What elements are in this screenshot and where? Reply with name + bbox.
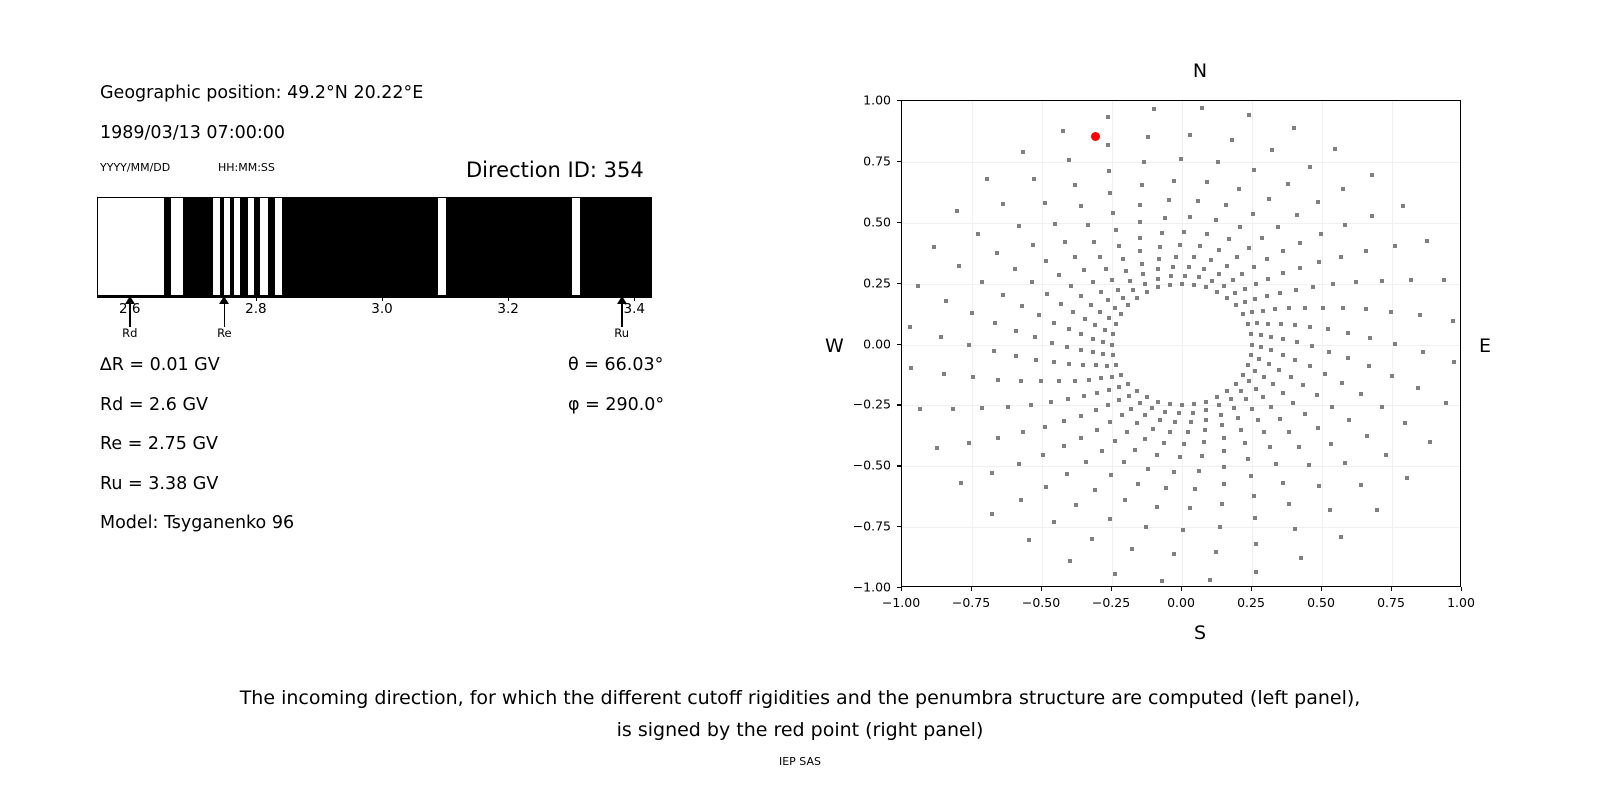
x-axis-tick-label: −1.00 bbox=[882, 595, 920, 610]
y-axis-tick-label: 0.50 bbox=[839, 214, 891, 229]
scatter-point bbox=[918, 407, 922, 411]
scatter-point bbox=[1110, 375, 1114, 379]
scatter-point bbox=[1043, 201, 1047, 205]
scatter-point bbox=[1065, 472, 1069, 476]
scatter-point bbox=[1114, 228, 1118, 232]
y-axis-tick-label: −1.00 bbox=[839, 580, 891, 595]
rigidity-tick-label: 2.8 bbox=[245, 301, 266, 317]
y-axis-tick bbox=[897, 100, 901, 101]
scatter-point bbox=[1079, 204, 1083, 208]
scatter-point bbox=[1341, 187, 1345, 191]
scatter-point bbox=[1063, 240, 1067, 244]
scatter-point bbox=[959, 481, 963, 485]
scatter-point bbox=[1321, 306, 1325, 310]
scatter-point bbox=[1390, 374, 1394, 378]
scatter-point bbox=[1191, 411, 1195, 415]
scatter-point bbox=[1021, 430, 1025, 434]
scatter-point bbox=[1327, 350, 1331, 354]
scatter-point bbox=[1057, 379, 1061, 383]
scatter-point bbox=[1303, 306, 1307, 310]
scatter-point bbox=[1182, 230, 1186, 234]
scatter-point bbox=[1146, 135, 1150, 139]
scatter-point bbox=[1158, 245, 1162, 249]
scatter-point bbox=[1082, 394, 1086, 398]
scatter-point bbox=[1014, 354, 1018, 358]
scatter-point bbox=[1119, 312, 1123, 316]
scatter-point bbox=[1225, 264, 1229, 268]
scatter-point bbox=[1295, 340, 1299, 344]
scatter-point bbox=[1380, 405, 1384, 409]
scatter-point bbox=[942, 372, 946, 376]
scatter-point bbox=[1222, 436, 1226, 440]
scatter-point bbox=[1107, 169, 1111, 173]
scatter-point bbox=[1297, 445, 1301, 449]
scatter-point bbox=[1222, 284, 1226, 288]
gridline-vertical bbox=[1042, 101, 1043, 586]
scatter-point bbox=[1346, 331, 1350, 335]
scatter-point bbox=[1079, 332, 1083, 336]
scatter-point bbox=[1087, 378, 1091, 382]
scatter-point bbox=[1204, 408, 1208, 412]
scatter-point bbox=[993, 321, 997, 325]
scatter-point bbox=[1094, 408, 1098, 412]
scatter-point bbox=[1110, 278, 1114, 282]
scatter-point bbox=[1057, 273, 1061, 277]
scatter-point bbox=[1095, 428, 1099, 432]
y-axis-tick bbox=[897, 283, 901, 284]
scatter-point bbox=[1138, 203, 1142, 207]
caption-line-2: is signed by the red point (right panel) bbox=[0, 714, 1600, 746]
scatter-point bbox=[1316, 200, 1320, 204]
scatter-point bbox=[1182, 442, 1186, 446]
scatter-point bbox=[1192, 283, 1196, 287]
scatter-point bbox=[1113, 439, 1117, 443]
scatter-point bbox=[1217, 272, 1221, 276]
scatter-point bbox=[1044, 485, 1048, 489]
scatter-point bbox=[1380, 279, 1384, 283]
angle-parameter-line: θ = 66.03° bbox=[568, 355, 663, 375]
scatter-point bbox=[1269, 348, 1273, 352]
gridline-vertical bbox=[972, 101, 973, 586]
scatter-point bbox=[1086, 223, 1090, 227]
penumbra-forbidden-band bbox=[220, 198, 224, 295]
scatter-point bbox=[951, 407, 955, 411]
scatter-point bbox=[1152, 107, 1156, 111]
scatter-point bbox=[1130, 547, 1134, 551]
scatter-point bbox=[1121, 296, 1125, 300]
scatter-point bbox=[1196, 199, 1200, 203]
scatter-point bbox=[1142, 160, 1146, 164]
scatter-point bbox=[1217, 248, 1221, 252]
parameter-line: Ru = 3.38 GV bbox=[100, 474, 218, 494]
marker-label: Rd bbox=[122, 326, 137, 340]
scatter-point bbox=[1370, 214, 1374, 218]
scatter-point bbox=[970, 311, 974, 315]
scatter-point bbox=[1421, 350, 1425, 354]
x-axis-tick bbox=[1461, 587, 1462, 591]
scatter-point bbox=[1197, 275, 1201, 279]
scatter-point bbox=[1101, 340, 1105, 344]
scatter-point bbox=[1247, 379, 1251, 383]
scatter-point bbox=[1129, 407, 1133, 411]
scatter-point bbox=[1279, 322, 1283, 326]
scatter-point bbox=[1246, 322, 1250, 326]
scatter-point bbox=[996, 378, 1000, 382]
scatter-point bbox=[1156, 400, 1160, 404]
scatter-point bbox=[1135, 421, 1139, 425]
scatter-point bbox=[1214, 218, 1218, 222]
arrow-shaft bbox=[224, 301, 225, 327]
scatter-point bbox=[1359, 392, 1363, 396]
x-axis-tick bbox=[1041, 587, 1042, 591]
scatter-point bbox=[1262, 375, 1266, 379]
scatter-point bbox=[1235, 255, 1239, 259]
scatter-point bbox=[1293, 358, 1297, 362]
caption-line-1: The incoming direction, for which the di… bbox=[0, 682, 1600, 714]
scatter-point bbox=[1124, 269, 1128, 273]
scatter-point bbox=[1384, 453, 1388, 457]
scatter-point bbox=[1339, 255, 1343, 259]
scatter-point bbox=[1416, 386, 1420, 390]
penumbra-bar bbox=[97, 197, 652, 296]
scatter-point bbox=[995, 251, 999, 255]
scatter-point bbox=[1107, 316, 1111, 320]
scatter-point bbox=[1294, 288, 1298, 292]
scatter-point bbox=[1082, 268, 1086, 272]
scatter-point bbox=[1053, 222, 1057, 226]
scatter-point bbox=[1451, 319, 1455, 323]
scatter-point bbox=[1122, 460, 1126, 464]
scatter-point bbox=[1299, 556, 1303, 560]
scatter-point bbox=[1138, 249, 1142, 253]
scatter-point bbox=[1252, 168, 1256, 172]
marker-label: Ru bbox=[614, 326, 629, 340]
scatter-point bbox=[1151, 427, 1155, 431]
scatter-point bbox=[1236, 416, 1240, 420]
scatter-point bbox=[1311, 285, 1315, 289]
scatter-point bbox=[1265, 257, 1269, 261]
scatter-point bbox=[1225, 296, 1229, 300]
scatter-point bbox=[1277, 368, 1281, 372]
scatter-point bbox=[1145, 395, 1149, 399]
scatter-point bbox=[1073, 255, 1077, 259]
scatter-point bbox=[1073, 183, 1077, 187]
scatter-point bbox=[1253, 369, 1257, 373]
scatter-point bbox=[1281, 481, 1285, 485]
scatter-point bbox=[1156, 285, 1160, 289]
scatter-point bbox=[976, 232, 980, 236]
scatter-point bbox=[1172, 179, 1176, 183]
parameter-line: Model: Tsyganenko 96 bbox=[100, 513, 294, 533]
scatter-point bbox=[1099, 376, 1103, 380]
penumbra-forbidden-band bbox=[230, 198, 234, 295]
scatter-point bbox=[1033, 335, 1037, 339]
penumbra-forbidden-band bbox=[282, 198, 438, 295]
scatter-point bbox=[1240, 272, 1244, 276]
scatter-point bbox=[1079, 294, 1083, 298]
scatter-point bbox=[1293, 527, 1297, 531]
scatter-point bbox=[1095, 391, 1099, 395]
scatter-point bbox=[1168, 283, 1172, 287]
x-axis-tick-label: 0.00 bbox=[1167, 595, 1195, 610]
scatter-point bbox=[1180, 403, 1184, 407]
scatter-point bbox=[1158, 418, 1162, 422]
scatter-point bbox=[1120, 413, 1124, 417]
scatter-point bbox=[1135, 389, 1139, 393]
scatter-point bbox=[1259, 345, 1263, 349]
scatter-point bbox=[1442, 278, 1446, 282]
scatter-point bbox=[1069, 284, 1073, 288]
scatter-point bbox=[1268, 445, 1272, 449]
scatter-point bbox=[1150, 406, 1154, 410]
scatter-point bbox=[1256, 418, 1260, 422]
scatter-point bbox=[944, 299, 948, 303]
scatter-point bbox=[1230, 138, 1234, 142]
scatter-point bbox=[1189, 420, 1193, 424]
scatter-point bbox=[1273, 307, 1277, 311]
scatter-point bbox=[1079, 414, 1083, 418]
scatter-point bbox=[1108, 191, 1112, 195]
scatter-point bbox=[1375, 508, 1379, 512]
scatter-point bbox=[1131, 288, 1135, 292]
scatter-point bbox=[1210, 279, 1214, 283]
scatter-point bbox=[1019, 379, 1023, 383]
scatter-point bbox=[1317, 484, 1321, 488]
scatter-point bbox=[1234, 382, 1238, 386]
scatter-point bbox=[1269, 335, 1273, 339]
scatter-point bbox=[1220, 502, 1224, 506]
scatter-point bbox=[1100, 449, 1104, 453]
x-axis-tick bbox=[901, 587, 902, 591]
scatter-point bbox=[1339, 535, 1343, 539]
scatter-point bbox=[1303, 412, 1307, 416]
scatter-point bbox=[1231, 278, 1235, 282]
scatter-point bbox=[1403, 421, 1407, 425]
scatter-point bbox=[1244, 397, 1248, 401]
penumbra-forbidden-band bbox=[268, 198, 275, 295]
scatter-point bbox=[1123, 498, 1127, 502]
scatter-point bbox=[980, 406, 984, 410]
scatter-point bbox=[1251, 212, 1255, 216]
angle-parameter-line: φ = 290.0° bbox=[568, 395, 664, 415]
scatter-point bbox=[980, 280, 984, 284]
scatter-point bbox=[1215, 290, 1219, 294]
y-axis-tick bbox=[897, 344, 901, 345]
scatter-point bbox=[1409, 278, 1413, 282]
scatter-point bbox=[1062, 444, 1066, 448]
scatter-point bbox=[1267, 197, 1271, 201]
scatter-point bbox=[1013, 267, 1017, 271]
scatter-point bbox=[1092, 240, 1096, 244]
scatter-point bbox=[1050, 341, 1054, 345]
scatter-point bbox=[1204, 285, 1208, 289]
scatter-point bbox=[1247, 113, 1251, 117]
scatter-point bbox=[1289, 375, 1293, 379]
scatter-point bbox=[1119, 373, 1123, 377]
scatter-point bbox=[1138, 401, 1142, 405]
scatter-point bbox=[1287, 502, 1291, 506]
scatter-point bbox=[1225, 389, 1229, 393]
scatter-point bbox=[1079, 348, 1083, 352]
scatter-point bbox=[1249, 474, 1253, 478]
penumbra-forbidden-band bbox=[164, 198, 172, 295]
scatter-point bbox=[1163, 410, 1167, 414]
scatter-point bbox=[1241, 312, 1245, 316]
scatter-point bbox=[1239, 428, 1243, 432]
x-axis-tick-label: 1.00 bbox=[1447, 595, 1475, 610]
scatter-point bbox=[1208, 578, 1212, 582]
scatter-point bbox=[1143, 437, 1147, 441]
scatter-point bbox=[1343, 223, 1347, 227]
scatter-point bbox=[1281, 391, 1285, 395]
scatter-point bbox=[1141, 272, 1145, 276]
x-axis-tick-label: 0.75 bbox=[1377, 595, 1405, 610]
scatter-point bbox=[1389, 310, 1393, 314]
scatter-point bbox=[916, 284, 920, 288]
scatter-point bbox=[1034, 358, 1038, 362]
penumbra-chart bbox=[97, 197, 652, 296]
scatter-point bbox=[1204, 418, 1208, 422]
scatter-point bbox=[1271, 382, 1275, 386]
scatter-point bbox=[1359, 483, 1363, 487]
scatter-point bbox=[1241, 373, 1245, 377]
scatter-point bbox=[1178, 243, 1182, 247]
scatter-point bbox=[1019, 498, 1023, 502]
scatter-point bbox=[1144, 525, 1148, 529]
x-axis-tick-label: −0.75 bbox=[952, 595, 990, 610]
figure-caption: The incoming direction, for which the di… bbox=[0, 682, 1600, 746]
scatter-point bbox=[1163, 216, 1167, 220]
scatter-point bbox=[957, 264, 961, 268]
scatter-point bbox=[1405, 476, 1409, 480]
parameter-line: Re = 2.75 GV bbox=[100, 434, 218, 454]
scatter-point bbox=[1333, 147, 1337, 151]
scatter-point bbox=[1254, 387, 1258, 391]
scatter-point bbox=[1278, 291, 1282, 295]
scatter-point bbox=[1232, 406, 1236, 410]
scatter-point bbox=[1145, 290, 1149, 294]
penumbra-forbidden-band bbox=[240, 198, 248, 295]
scatter-point bbox=[1295, 213, 1299, 217]
scatter-point bbox=[1101, 352, 1105, 356]
scatter-point bbox=[1217, 403, 1221, 407]
scatter-point bbox=[1249, 353, 1253, 357]
scatter-point bbox=[1121, 257, 1125, 261]
scatter-point bbox=[967, 343, 971, 347]
scatter-point bbox=[1253, 516, 1257, 520]
right-panel: N S W E −1.00−0.75−0.50−0.250.000.250.50… bbox=[800, 0, 1600, 660]
scatter-point bbox=[908, 325, 912, 329]
scatter-point bbox=[1146, 467, 1150, 471]
scatter-point bbox=[1039, 379, 1043, 383]
y-axis-tick-label: 1.00 bbox=[839, 93, 891, 108]
scatter-point bbox=[1140, 262, 1144, 266]
scatter-point bbox=[1281, 337, 1285, 341]
x-axis-tick bbox=[1181, 587, 1182, 591]
scatter-point bbox=[990, 471, 994, 475]
x-axis-tick-label: 0.50 bbox=[1307, 595, 1335, 610]
scatter-point bbox=[1330, 405, 1334, 409]
scatter-point bbox=[1254, 282, 1258, 286]
scatter-point bbox=[1308, 364, 1312, 368]
scatter-point bbox=[1261, 309, 1265, 313]
scatter-point bbox=[1205, 180, 1209, 184]
scatter-point bbox=[1287, 430, 1291, 434]
scatter-point bbox=[1364, 249, 1368, 253]
scatter-point bbox=[1030, 280, 1034, 284]
scatter-point bbox=[1222, 449, 1226, 453]
scatter-point bbox=[1169, 274, 1173, 278]
scatter-point bbox=[1155, 505, 1159, 509]
x-axis-tick bbox=[971, 587, 972, 591]
scatter-point bbox=[1090, 537, 1094, 541]
scatter-point bbox=[1246, 363, 1250, 367]
scatter-point bbox=[1250, 310, 1254, 314]
scatter-point bbox=[1074, 503, 1078, 507]
scatter-point bbox=[1267, 362, 1271, 366]
scatter-point bbox=[1425, 239, 1429, 243]
scatter-point bbox=[1329, 442, 1333, 446]
scatter-point bbox=[1255, 321, 1259, 325]
x-axis-tick bbox=[1391, 587, 1392, 591]
gridline-horizontal bbox=[902, 345, 1460, 346]
scatter-point bbox=[1160, 579, 1164, 583]
scatter-point bbox=[967, 441, 971, 445]
scatter-point bbox=[1172, 470, 1176, 474]
scatter-point bbox=[1164, 486, 1168, 490]
scatter-point bbox=[1418, 313, 1422, 317]
scatter-point bbox=[1021, 150, 1025, 154]
scatter-point bbox=[1200, 106, 1204, 110]
scatter-point bbox=[1001, 202, 1005, 206]
rigidity-tick-label: 3.2 bbox=[497, 301, 518, 317]
scatter-point bbox=[1249, 332, 1253, 336]
scatter-point bbox=[939, 335, 943, 339]
y-axis-tick-label: 0.00 bbox=[839, 336, 891, 351]
scatter-point bbox=[1108, 420, 1112, 424]
scatter-point bbox=[1066, 397, 1070, 401]
scatter-point bbox=[1143, 282, 1147, 286]
scatter-point bbox=[1179, 157, 1183, 161]
scatter-point bbox=[1106, 143, 1110, 147]
selected-direction-point[interactable] bbox=[1091, 132, 1100, 141]
y-axis-tick bbox=[897, 404, 901, 405]
scatter-point bbox=[1117, 385, 1121, 389]
scatter-point bbox=[1091, 337, 1095, 341]
scatter-point bbox=[1117, 398, 1121, 402]
scatter-point bbox=[1171, 265, 1175, 269]
scatter-point bbox=[1037, 313, 1041, 317]
scatter-point bbox=[1254, 542, 1258, 546]
scatter-point bbox=[1127, 394, 1131, 398]
scatter-point bbox=[1027, 538, 1031, 542]
scatter-point bbox=[1180, 282, 1184, 286]
penumbra-forbidden-band bbox=[254, 198, 260, 295]
scatter-point bbox=[1108, 517, 1112, 521]
penumbra-forbidden-band bbox=[446, 198, 572, 295]
scatter-point bbox=[990, 512, 994, 516]
rigidity-tick-label: 3.0 bbox=[371, 301, 392, 317]
scatter-point bbox=[1257, 357, 1261, 361]
scatter-point bbox=[1316, 426, 1320, 430]
scatter-point bbox=[1065, 345, 1069, 349]
scatter-point bbox=[1032, 177, 1036, 181]
gridline-horizontal bbox=[902, 162, 1460, 163]
scatter-point bbox=[1243, 300, 1247, 304]
scatter-point bbox=[1261, 395, 1265, 399]
scatter-point bbox=[1293, 323, 1297, 327]
scatter-point bbox=[1116, 288, 1120, 292]
